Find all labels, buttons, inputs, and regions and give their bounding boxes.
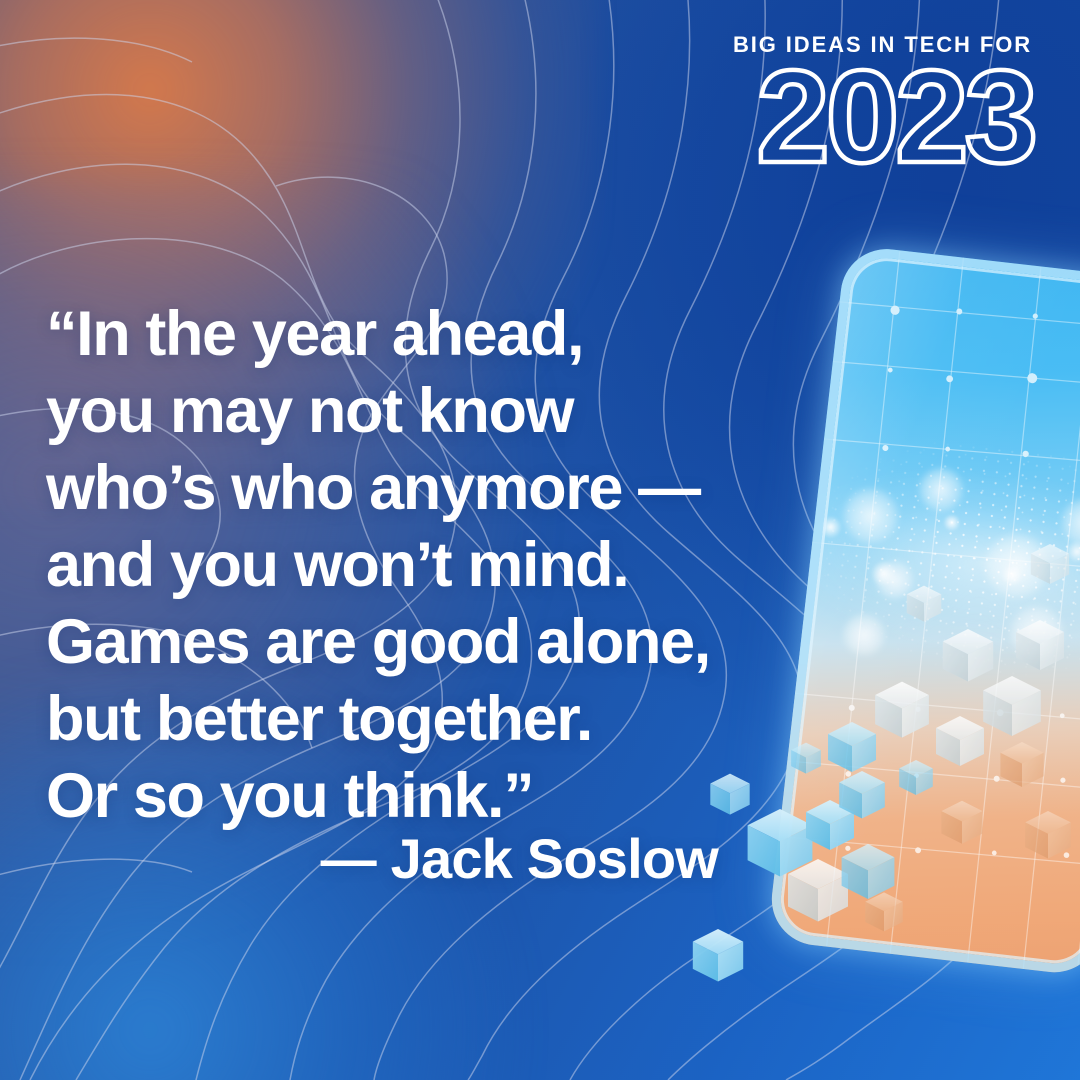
year-outline-text: 2023 bbox=[756, 62, 1034, 174]
quote-attribution: — Jack Soslow bbox=[46, 828, 718, 890]
quote-line: you may not know bbox=[46, 373, 806, 450]
header-kicker: BIG IDEAS IN TECH FOR bbox=[632, 34, 1032, 56]
header-block: BIG IDEAS IN TECH FOR 2023 bbox=[632, 34, 1032, 174]
quote-line: who’s who anymore — bbox=[46, 450, 806, 527]
quote-line: “In the year ahead, bbox=[46, 296, 806, 373]
quote-poster: BIG IDEAS IN TECH FOR 2023 “In the year … bbox=[0, 0, 1080, 1080]
quote-line: Or so you think.” bbox=[46, 758, 806, 835]
quote-line: and you won’t mind. bbox=[46, 527, 806, 604]
header-year: 2023 bbox=[632, 62, 1032, 174]
quote-line: but better together. bbox=[46, 681, 806, 758]
quote-line: Games are good alone, bbox=[46, 604, 806, 681]
quote-text-block: “In the year ahead, you may not know who… bbox=[46, 296, 806, 835]
